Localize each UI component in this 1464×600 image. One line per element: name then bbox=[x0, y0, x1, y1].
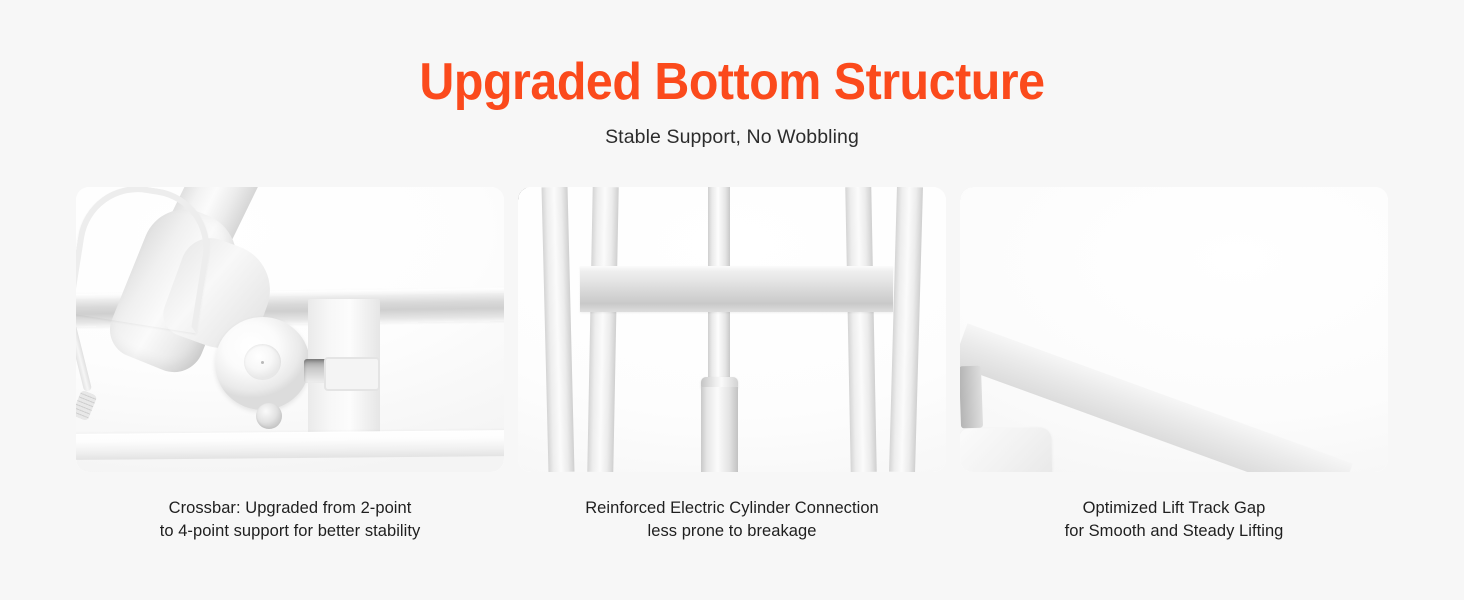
bracket-slot-frame bbox=[324, 357, 380, 391]
caption-lift-track: Optimized Lift Track Gap for Smooth and … bbox=[960, 497, 1388, 557]
caption-crossbar: Crossbar: Upgraded from 2-point to 4-poi… bbox=[76, 497, 504, 557]
caption-line-2: for Smooth and Steady Lifting bbox=[960, 520, 1388, 543]
caption-line-1: Optimized Lift Track Gap bbox=[960, 497, 1388, 520]
caption-line-1: Reinforced Electric Cylinder Connection bbox=[518, 497, 946, 520]
page-title: Upgraded Bottom Structure bbox=[51, 0, 1413, 115]
table-leg-2 bbox=[587, 187, 618, 472]
pivot-knob bbox=[256, 403, 282, 429]
caption-line-2: less prone to breakage bbox=[518, 520, 946, 543]
infographic-page: Upgraded Bottom Structure Stable Support… bbox=[0, 0, 1464, 600]
base-bar bbox=[76, 430, 504, 460]
electric-cylinder-photo bbox=[518, 187, 946, 472]
panel-electric-cylinder bbox=[518, 187, 946, 472]
panel-lift-track bbox=[960, 187, 1388, 472]
panel-row bbox=[76, 187, 1388, 472]
cylinder-body bbox=[701, 387, 738, 472]
bracket-plate-upper bbox=[960, 427, 1053, 472]
panel-crossbar bbox=[76, 187, 504, 472]
caption-electric-cylinder: Reinforced Electric Cylinder Connection … bbox=[518, 497, 946, 557]
page-subtitle: Stable Support, No Wobbling bbox=[0, 115, 1464, 150]
lift-track-photo bbox=[960, 187, 1388, 472]
reinforced-crossbar bbox=[580, 266, 893, 312]
header: Upgraded Bottom Structure Stable Support… bbox=[0, 0, 1464, 150]
track-gap-upper bbox=[960, 366, 983, 429]
caption-row: Crossbar: Upgraded from 2-point to 4-poi… bbox=[76, 497, 1388, 557]
caption-line-1: Crossbar: Upgraded from 2-point bbox=[76, 497, 504, 520]
caption-line-2: to 4-point support for better stability bbox=[76, 520, 504, 543]
crossbar-joint-photo bbox=[76, 187, 504, 472]
table-leg-3 bbox=[845, 187, 876, 472]
pivot-cap-dot bbox=[261, 361, 264, 364]
crossbar-top-highlight bbox=[580, 266, 893, 272]
